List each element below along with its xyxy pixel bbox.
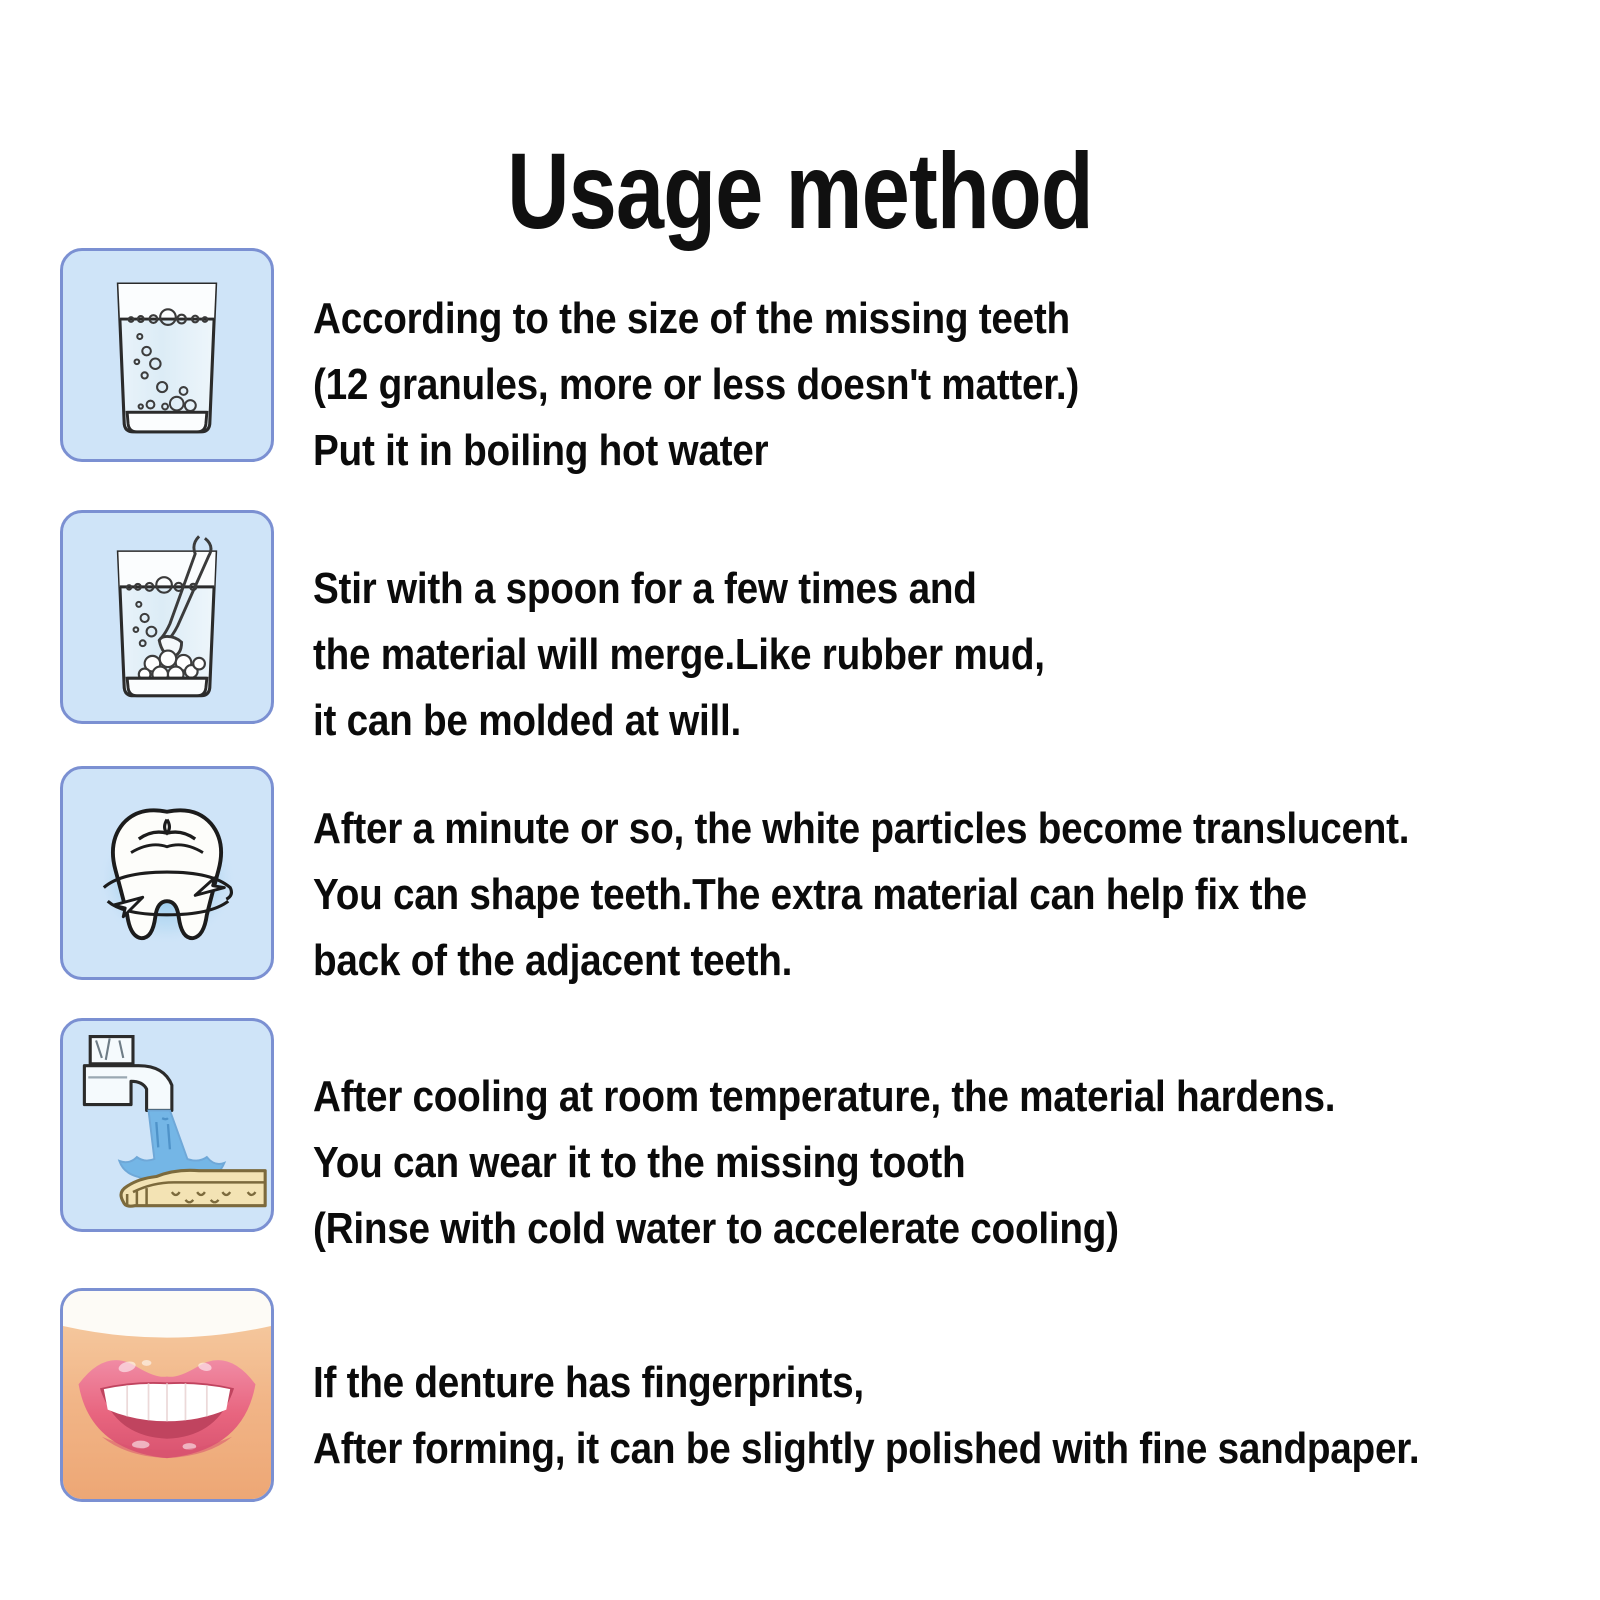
- step-line: the material will merge.Like rubber mud,: [313, 622, 1422, 688]
- step-item: If the denture has fingerprints, After f…: [0, 1288, 1600, 1504]
- step-line: it can be molded at will.: [313, 688, 1422, 754]
- step-description: Stir with a spoon for a few times and th…: [313, 556, 1422, 754]
- page-title: Usage method: [160, 134, 1440, 247]
- step-description: After a minute or so, the white particle…: [313, 796, 1422, 994]
- smiling-mouth-teeth-icon: [60, 1288, 274, 1502]
- step-line: After a minute or so, the white particle…: [313, 796, 1422, 862]
- step-line: If the denture has fingerprints,: [313, 1350, 1422, 1416]
- glass-with-spoon-stirring-icon: [60, 510, 274, 724]
- step-line: After cooling at room temperature, the m…: [313, 1064, 1422, 1130]
- step-item: According to the size of the missing tee…: [0, 248, 1600, 464]
- step-line: You can shape teeth.The extra material c…: [313, 862, 1422, 928]
- step-line: back of the adjacent teeth.: [313, 928, 1422, 994]
- glass-of-boiling-water-icon: [60, 248, 274, 462]
- step-line: Stir with a spoon for a few times and: [313, 556, 1422, 622]
- step-line: (12 granules, more or less doesn't matte…: [313, 352, 1422, 418]
- tooth-shaping-icon: [60, 766, 274, 980]
- step-line: (Rinse with cold water to accelerate coo…: [313, 1196, 1422, 1262]
- step-description: If the denture has fingerprints, After f…: [313, 1350, 1422, 1482]
- step-item: Stir with a spoon for a few times and th…: [0, 510, 1600, 726]
- step-line: Put it in boiling hot water: [313, 418, 1422, 484]
- step-description: According to the size of the missing tee…: [313, 286, 1422, 484]
- step-line: According to the size of the missing tee…: [313, 286, 1422, 352]
- faucet-rinsing-hands-icon: [60, 1018, 274, 1232]
- usage-method-infographic: Usage method: [0, 0, 1600, 1600]
- step-line: After forming, it can be slightly polish…: [313, 1416, 1422, 1482]
- step-line: You can wear it to the missing tooth: [313, 1130, 1422, 1196]
- step-item: After a minute or so, the white particle…: [0, 766, 1600, 982]
- step-description: After cooling at room temperature, the m…: [313, 1064, 1422, 1262]
- step-item: After cooling at room temperature, the m…: [0, 1018, 1600, 1234]
